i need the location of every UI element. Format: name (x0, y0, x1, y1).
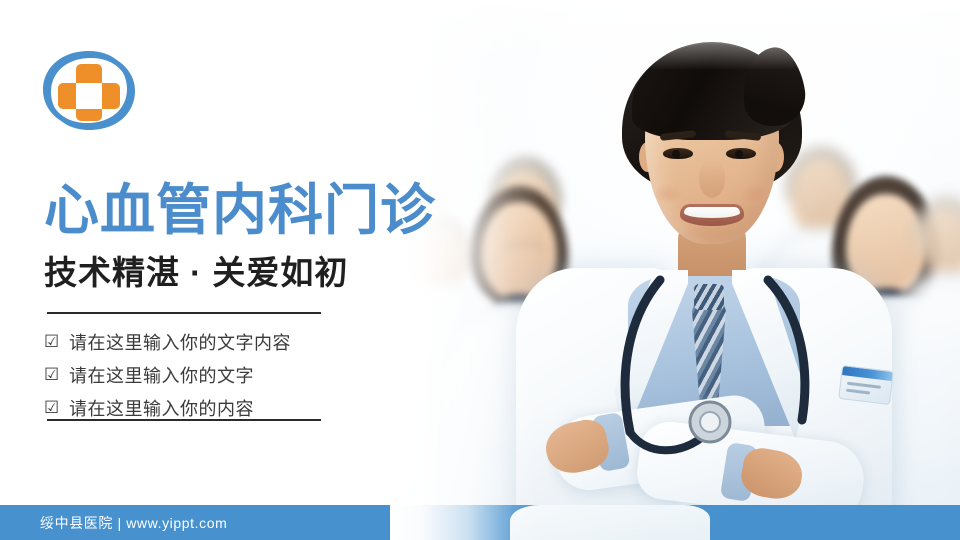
checkbox-checked-icon: ☑ (44, 398, 64, 418)
id-badge (838, 365, 894, 405)
divider-bottom (47, 419, 321, 421)
foreground-doctor (510, 18, 910, 540)
checkbox-checked-icon: ☑ (44, 332, 64, 352)
doctor-team-photo (390, 0, 960, 540)
hospital-logo (38, 42, 140, 138)
coat-overlap-footer (510, 505, 710, 540)
slide-canvas: 心血管内科门诊 技术精湛 · 关爱如初 ☑ 请在这里输入你的文字内容 ☑ 请在这… (0, 0, 960, 540)
photo-left-fade (390, 0, 540, 540)
list-item-label: 请在这里输入你的内容 (69, 395, 254, 421)
page-title: 心血管内科门诊 (44, 179, 436, 241)
list-item: ☑ 请在这里输入你的文字内容 (44, 328, 291, 356)
list-item-label: 请在这里输入你的文字内容 (69, 329, 291, 355)
list-item: ☑ 请在这里输入你的内容 (44, 394, 291, 422)
badge-line (846, 389, 870, 395)
checkbox-checked-icon: ☑ (44, 365, 64, 385)
footer-credit: 绥中县医院 | www.yippt.com (40, 513, 227, 533)
page-subtitle: 技术精湛 · 关爱如初 (44, 252, 348, 294)
bullet-list: ☑ 请在这里输入你的文字内容 ☑ 请在这里输入你的文字 ☑ 请在这里输入你的内容 (44, 328, 291, 427)
badge-line (847, 382, 881, 389)
list-item-label: 请在这里输入你的文字 (69, 362, 254, 388)
list-item: ☑ 请在这里输入你的文字 (44, 361, 291, 389)
divider-top (47, 312, 321, 314)
